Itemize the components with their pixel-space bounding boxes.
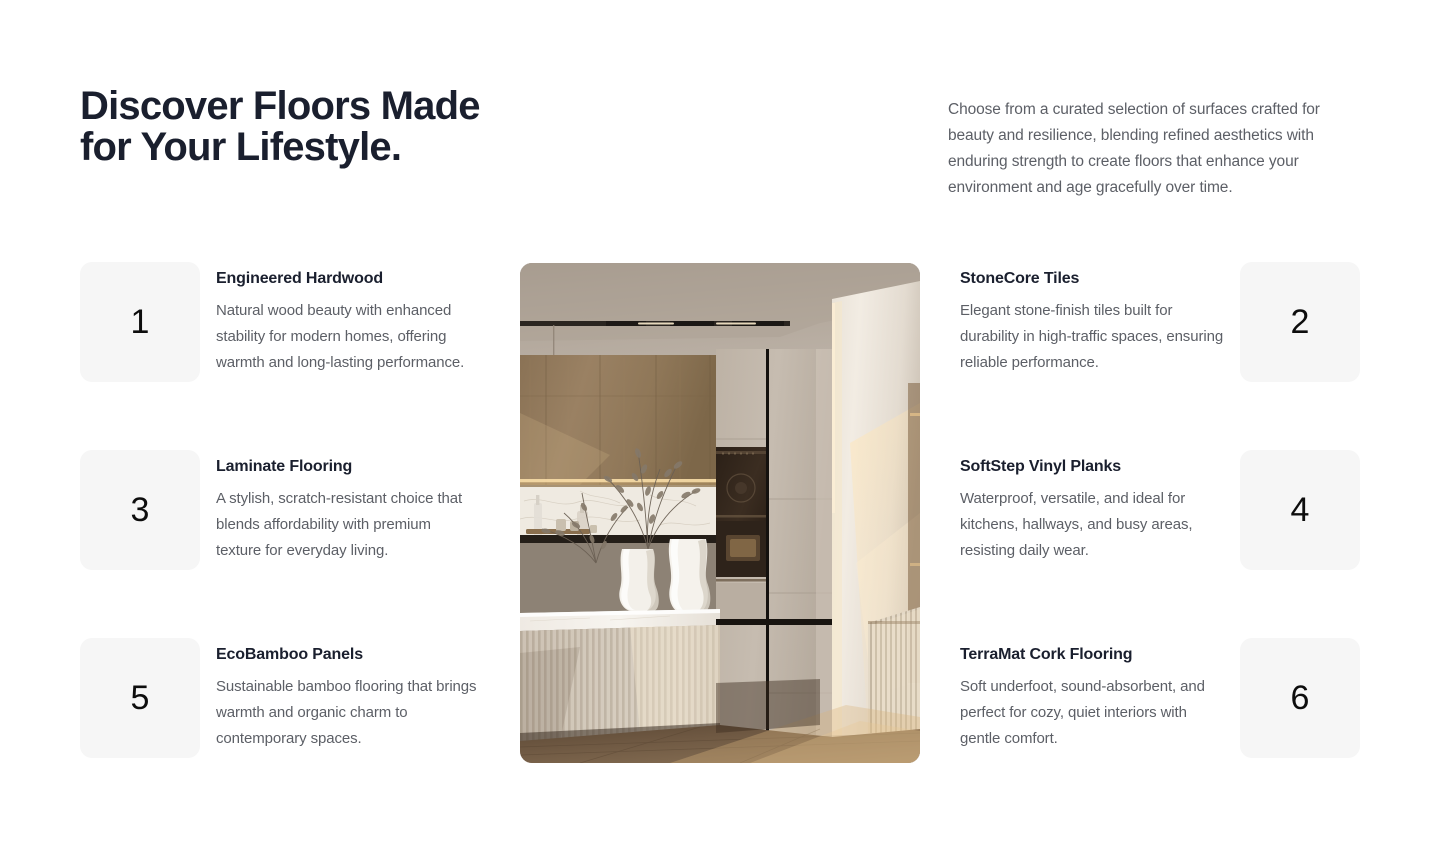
feature-title: SoftStep Vinyl Planks [960, 457, 1224, 477]
kitchen-interior-illustration [520, 263, 920, 763]
feature-text: StoneCore Tiles Elegant stone-finish til… [960, 262, 1224, 376]
feature-title: TerraMat Cork Flooring [960, 645, 1224, 665]
features-column-right: 2 StoneCore Tiles Elegant stone-finish t… [960, 262, 1360, 758]
feature-item[interactable]: 5 EcoBamboo Panels Sustainable bamboo fl… [80, 638, 480, 758]
feature-text: EcoBamboo Panels Sustainable bamboo floo… [216, 638, 480, 752]
feature-description: Natural wood beauty with enhanced stabil… [216, 298, 480, 376]
kitchen-interior-photo [520, 263, 920, 763]
feature-description: Sustainable bamboo flooring that brings … [216, 674, 480, 752]
feature-title: StoneCore Tiles [960, 269, 1224, 289]
feature-item[interactable]: 1 Engineered Hardwood Natural wood beaut… [80, 262, 480, 382]
page-title-line-2: for Your Lifestyle. [80, 127, 600, 168]
features-column-left: 1 Engineered Hardwood Natural wood beaut… [80, 262, 480, 758]
feature-number-badge: 5 [80, 638, 200, 758]
feature-item[interactable]: 2 StoneCore Tiles Elegant stone-finish t… [960, 262, 1360, 382]
feature-text: Laminate Flooring A stylish, scratch-res… [216, 450, 480, 564]
feature-number-badge: 1 [80, 262, 200, 382]
feature-description: Soft underfoot, sound-absorbent, and per… [960, 674, 1224, 752]
feature-item[interactable]: 6 TerraMat Cork Flooring Soft underfoot,… [960, 638, 1360, 758]
feature-number-badge: 4 [1240, 450, 1360, 570]
feature-title: EcoBamboo Panels [216, 645, 480, 665]
feature-text: Engineered Hardwood Natural wood beauty … [216, 262, 480, 376]
page-title: Discover Floors Made for Your Lifestyle. [80, 86, 600, 168]
feature-text: TerraMat Cork Flooring Soft underfoot, s… [960, 638, 1224, 752]
feature-number-badge: 2 [1240, 262, 1360, 382]
feature-description: A stylish, scratch-resistant choice that… [216, 486, 480, 564]
page-title-line-1: Discover Floors Made [80, 86, 600, 127]
feature-title: Laminate Flooring [216, 457, 480, 477]
feature-number-badge: 3 [80, 450, 200, 570]
feature-text: SoftStep Vinyl Planks Waterproof, versat… [960, 450, 1224, 564]
feature-item[interactable]: 4 SoftStep Vinyl Planks Waterproof, vers… [960, 450, 1360, 570]
feature-description: Elegant stone-finish tiles built for dur… [960, 298, 1224, 376]
intro-paragraph: Choose from a curated selection of surfa… [948, 86, 1360, 201]
feature-description: Waterproof, versatile, and ideal for kit… [960, 486, 1224, 564]
page-header: Discover Floors Made for Your Lifestyle.… [80, 86, 1360, 201]
landing-page: Discover Floors Made for Your Lifestyle.… [0, 0, 1440, 859]
feature-item[interactable]: 3 Laminate Flooring A stylish, scratch-r… [80, 450, 480, 570]
feature-title: Engineered Hardwood [216, 269, 480, 289]
feature-number-badge: 6 [1240, 638, 1360, 758]
